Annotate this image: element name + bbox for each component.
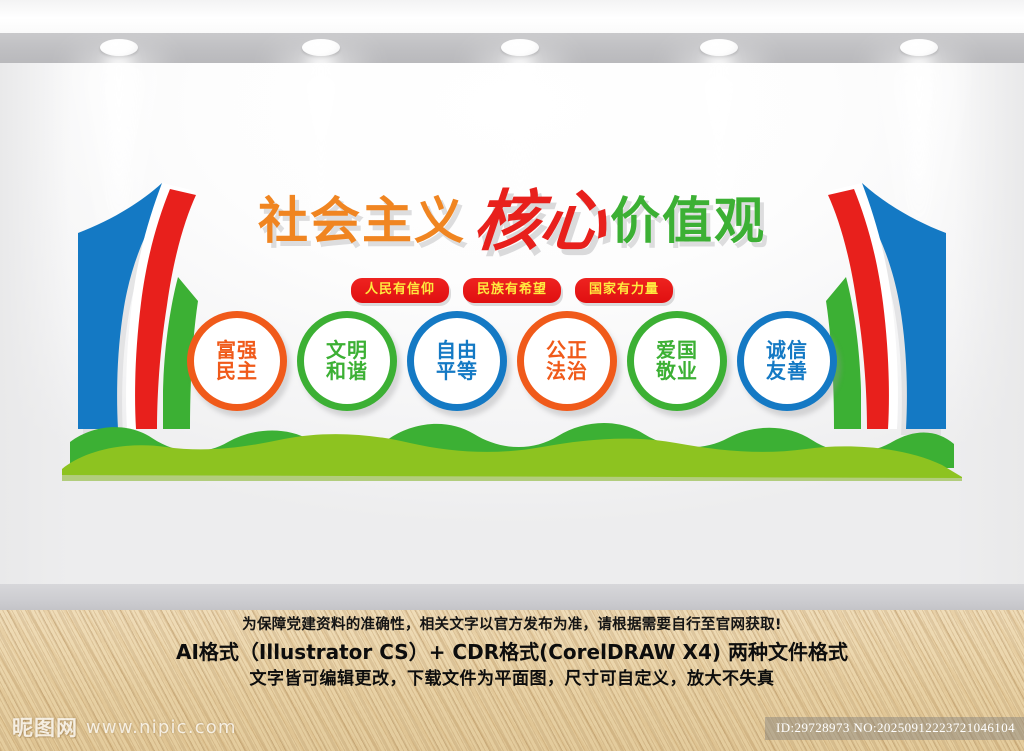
value-circle-line2: 和谐	[326, 361, 368, 382]
value-circle-line2: 法治	[546, 361, 588, 382]
footer-line-3: 文字皆可编辑更改，下载文件为平面图，尺寸可自定义，放大不失真	[0, 667, 1024, 692]
value-circle-line2: 平等	[436, 361, 478, 382]
value-circle-line2: 民主	[216, 361, 258, 382]
value-circle-wenming-hexie: 文明 和谐	[297, 311, 397, 411]
value-circle-line1: 自由	[436, 340, 478, 361]
wall-artwork: 社会主义核心价值观 人民有信仰 民族有希望 国家有力量 富强 民主 文明 和谐 …	[0, 63, 1024, 584]
value-circle-fuqiang-minzhu: 富强 民主	[187, 311, 287, 411]
value-circle-aiguo-jingye: 爱国 敬业	[627, 311, 727, 411]
slogan-badge: 国家有力量	[575, 278, 673, 303]
core-values-circle-row: 富强 民主 文明 和谐 自由 平等 公正 法治 爱国 敬业 诚信 友善	[0, 311, 1024, 411]
wall-baseboard	[0, 584, 1024, 610]
artwork-title: 社会主义核心价值观	[0, 188, 1024, 254]
title-part-3: 价值观	[610, 196, 766, 246]
value-circle-gongzheng-fazhi: 公正 法治	[517, 311, 617, 411]
title-part-2: 核心	[471, 188, 609, 254]
footer-disclaimer: 为保障党建资料的准确性，相关文字以官方发布为准，请根据需要自行至官网获取! AI…	[0, 615, 1024, 691]
value-circle-line1: 富强	[216, 340, 258, 361]
ceiling-spotlight-3	[501, 39, 539, 56]
title-part-1: 社会主义	[258, 196, 466, 246]
watermark-brand-cn: 昵图网	[12, 712, 78, 742]
value-circle-line1: 公正	[546, 340, 588, 361]
ceiling-top	[0, 0, 1024, 33]
slogan-badge: 民族有希望	[463, 278, 561, 303]
ceiling-spotlight-1	[100, 39, 138, 56]
asset-id-bar: ID:29728973 NO:20250912223721046104	[765, 717, 1024, 740]
value-circle-line1: 诚信	[766, 340, 808, 361]
footer-line-1: 为保障党建资料的准确性，相关文字以官方发布为准，请根据需要自行至官网获取!	[0, 615, 1024, 637]
ceiling-spotlight-4	[700, 39, 738, 56]
footer-line-2: AI格式（Illustrator CS）+ CDR格式(CorelDRAW X4…	[0, 638, 1024, 667]
value-circle-ziyou-pingdeng: 自由 平等	[407, 311, 507, 411]
site-watermark: 昵图网 www.nipic.com	[12, 712, 237, 742]
screenshot-stage: 社会主义核心价值观 人民有信仰 民族有希望 国家有力量 富强 民主 文明 和谐 …	[0, 0, 1024, 751]
value-circle-line1: 爱国	[656, 340, 698, 361]
slogan-badge-row: 人民有信仰 民族有希望 国家有力量	[0, 278, 1024, 303]
value-circle-line2: 敬业	[656, 361, 698, 382]
grass-layer-front	[62, 425, 962, 481]
slogan-badge: 人民有信仰	[351, 278, 449, 303]
value-circle-chengxin-youshan: 诚信 友善	[737, 311, 837, 411]
value-circle-line2: 友善	[766, 361, 808, 382]
value-circle-line1: 文明	[326, 340, 368, 361]
ceiling-spotlight-5	[900, 39, 938, 56]
ceiling-spotlight-2	[302, 39, 340, 56]
watermark-brand-url: www.nipic.com	[86, 717, 237, 738]
